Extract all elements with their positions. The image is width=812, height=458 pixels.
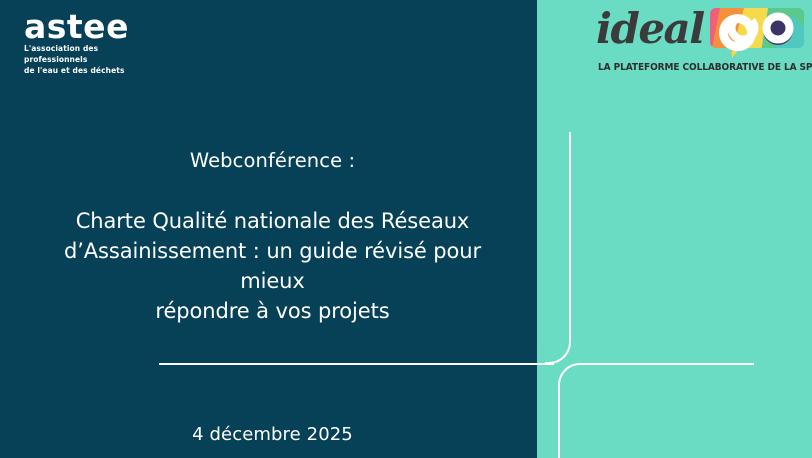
title-block: Webconférence : Charte Qualité nationale… — [40, 148, 505, 327]
slide-title-line-2: d’Assainissement : un guide révisé pour … — [40, 237, 505, 297]
idealco-wordmark: ideal — [596, 8, 704, 50]
horizontal-divider-rule — [159, 363, 554, 365]
slide-title-line-3: répondre à vos projets — [40, 297, 505, 327]
decorative-elbow-lower — [558, 363, 754, 458]
astee-tagline-line-1: L'association des professionnels — [24, 44, 154, 66]
presentation-slide: astee L'association des professionnels d… — [0, 0, 812, 458]
astee-logo: astee L'association des professionnels d… — [24, 10, 154, 77]
idealco-logo: ideal — [596, 6, 810, 78]
decorative-elbow-upper — [545, 132, 571, 364]
slide-title-line-1: Charte Qualité nationale des Réseaux — [40, 207, 505, 237]
astee-wordmark: astee — [24, 10, 154, 40]
slide-kicker: Webconférence : — [40, 148, 505, 173]
astee-tagline-line-2: de l'eau et des déchets — [24, 66, 154, 77]
astee-tagline: L'association des professionnels de l'ea… — [24, 44, 154, 77]
idealco-speech-bubble-icon — [710, 8, 804, 58]
idealco-tagline: LA PLATEFORME COLLABORATIVE DE LA SPHÈRE… — [598, 62, 804, 73]
slide-title: Charte Qualité nationale des Réseaux d’A… — [40, 207, 505, 326]
slide-date: 4 décembre 2025 — [40, 424, 505, 445]
